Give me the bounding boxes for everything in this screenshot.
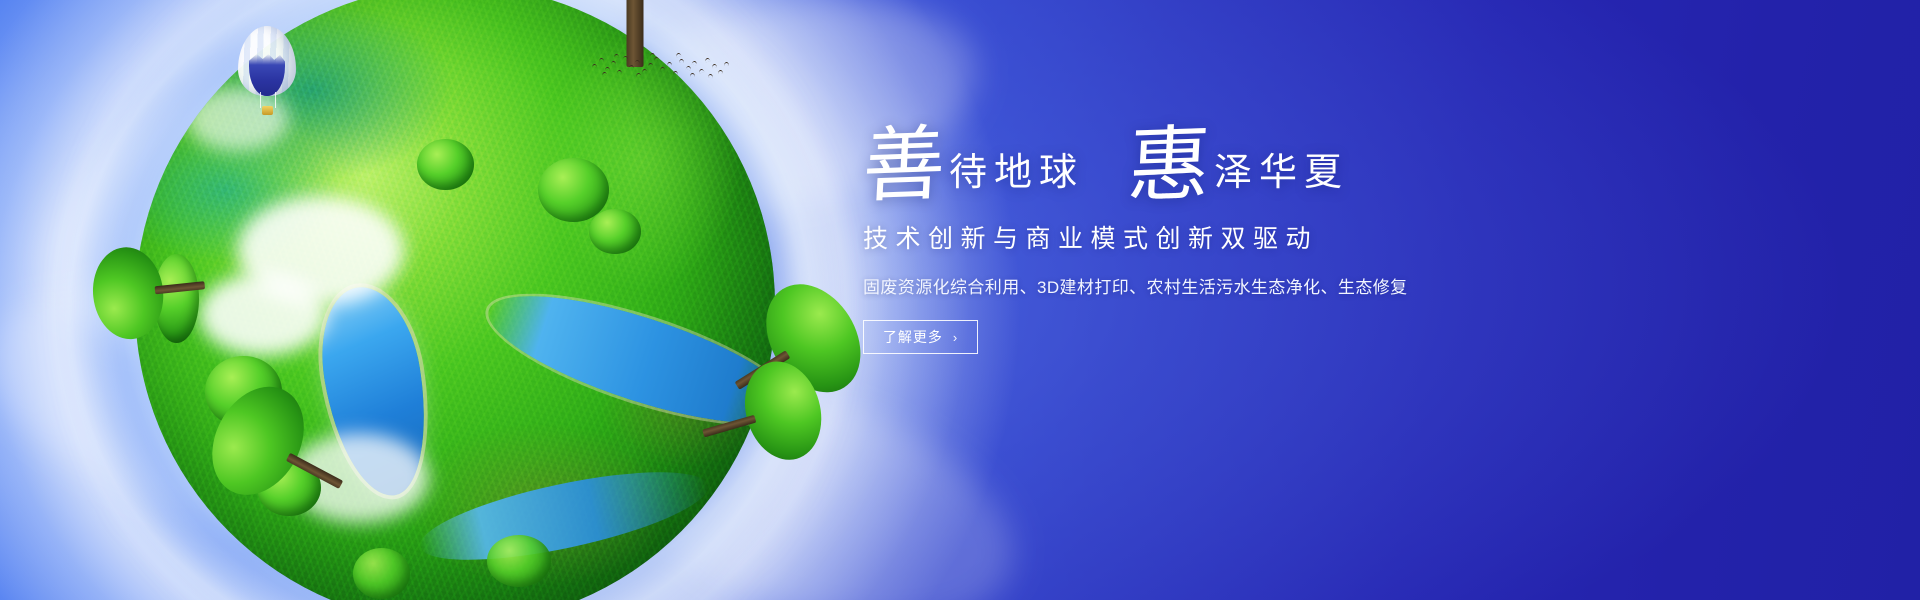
bird-icon bbox=[686, 66, 692, 71]
bird-icon bbox=[708, 74, 713, 79]
bird-icon bbox=[705, 57, 711, 62]
bird-icon bbox=[623, 56, 629, 61]
headline-phrase-1: 待地球 bbox=[949, 153, 1084, 203]
learn-more-button[interactable]: 了解更多 › bbox=[863, 320, 978, 354]
forest-cluster bbox=[589, 209, 640, 254]
headline-char-2-large: 惠 bbox=[1126, 127, 1212, 205]
bird-icon bbox=[660, 67, 666, 72]
bird-icon bbox=[676, 52, 682, 57]
chevron-right-icon: › bbox=[953, 331, 958, 344]
bird-icon bbox=[642, 68, 648, 73]
headline-phrase-2: 泽华夏 bbox=[1214, 153, 1349, 203]
bird-icon bbox=[605, 67, 610, 71]
globe-sphere bbox=[135, 0, 775, 600]
banner-content: 善 待地球 惠 泽华夏 技术创新与商业模式创新双驱动 固废资源化综合利用、3D建… bbox=[863, 128, 1503, 354]
bird-icon bbox=[592, 64, 597, 69]
bird-icon bbox=[599, 58, 604, 62]
bird-flock-icon bbox=[590, 50, 730, 90]
balloon-basket bbox=[262, 106, 273, 115]
banner-description: 固废资源化综合利用、3D建材打印、农村生活污水生态净化、生态修复 bbox=[863, 273, 1503, 298]
bird-icon bbox=[650, 53, 655, 57]
banner-subtitle: 技术创新与商业模式创新双驱动 bbox=[863, 219, 1503, 255]
headline: 善 待地球 惠 泽华夏 bbox=[863, 128, 1503, 203]
bird-icon bbox=[712, 64, 717, 69]
bird-icon bbox=[718, 70, 723, 74]
forest-cluster bbox=[487, 535, 551, 586]
tree-icon bbox=[88, 237, 209, 344]
hot-air-balloon-icon bbox=[238, 26, 296, 122]
bird-icon bbox=[636, 72, 642, 77]
bird-icon bbox=[667, 62, 672, 66]
bird-icon bbox=[629, 64, 635, 69]
bird-icon bbox=[690, 73, 695, 77]
earth-globe-image bbox=[135, 0, 775, 600]
bird-icon bbox=[617, 70, 623, 75]
bird-icon bbox=[611, 61, 616, 66]
bird-icon bbox=[679, 59, 684, 63]
cloud-on-globe bbox=[199, 273, 327, 356]
bird-icon bbox=[648, 62, 654, 67]
forest-cluster bbox=[538, 158, 608, 222]
forest-cluster bbox=[417, 139, 475, 190]
bird-icon bbox=[724, 62, 729, 66]
learn-more-label: 了解更多 bbox=[883, 327, 943, 347]
bird-icon bbox=[654, 57, 660, 62]
tree-trunk bbox=[286, 453, 343, 489]
bird-icon bbox=[692, 60, 698, 65]
tree-trunk bbox=[702, 415, 756, 438]
bird-icon bbox=[602, 71, 608, 76]
bird-icon bbox=[673, 71, 678, 75]
bird-icon bbox=[635, 59, 641, 64]
bird-icon bbox=[699, 68, 705, 73]
headline-char-1-large: 善 bbox=[861, 127, 947, 205]
tree-trunk bbox=[155, 281, 206, 294]
hero-banner: 善 待地球 惠 泽华夏 技术创新与商业模式创新双驱动 固废资源化综合利用、3D建… bbox=[0, 0, 1920, 600]
bird-icon bbox=[614, 54, 620, 59]
